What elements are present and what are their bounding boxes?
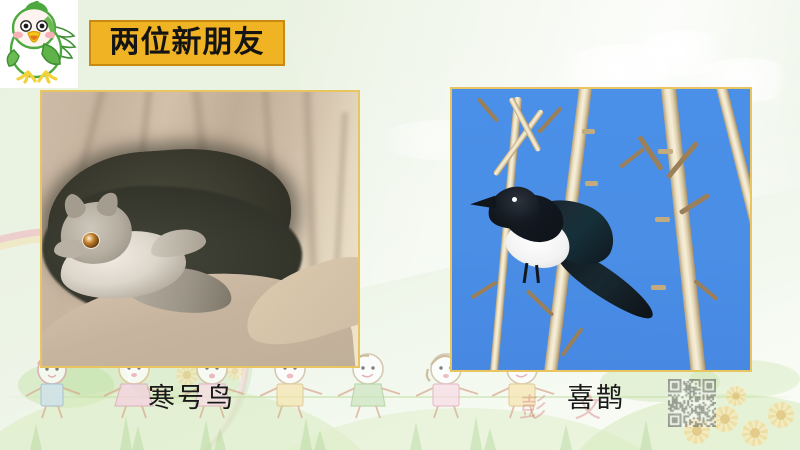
- sunflower-icon: [768, 402, 794, 428]
- slide-canvas: 两位新朋友: [0, 0, 800, 450]
- qr-code-icon[interactable]: [668, 379, 716, 427]
- green-bird-mascot-icon: [0, 0, 78, 88]
- logo-badge: [0, 0, 78, 88]
- photo-squirrel[interactable]: [40, 90, 360, 368]
- caption-squirrel: 寒号鸟: [148, 385, 235, 412]
- title-box: 两位新朋友: [89, 20, 285, 66]
- photo-magpie[interactable]: [450, 87, 752, 372]
- sunflower-icon: [726, 386, 746, 406]
- caption-magpie: 喜鹊: [567, 385, 625, 412]
- sunflower-icon: [742, 420, 768, 446]
- cloud-puff: [636, 30, 732, 76]
- page-title: 两位新朋友: [110, 28, 265, 58]
